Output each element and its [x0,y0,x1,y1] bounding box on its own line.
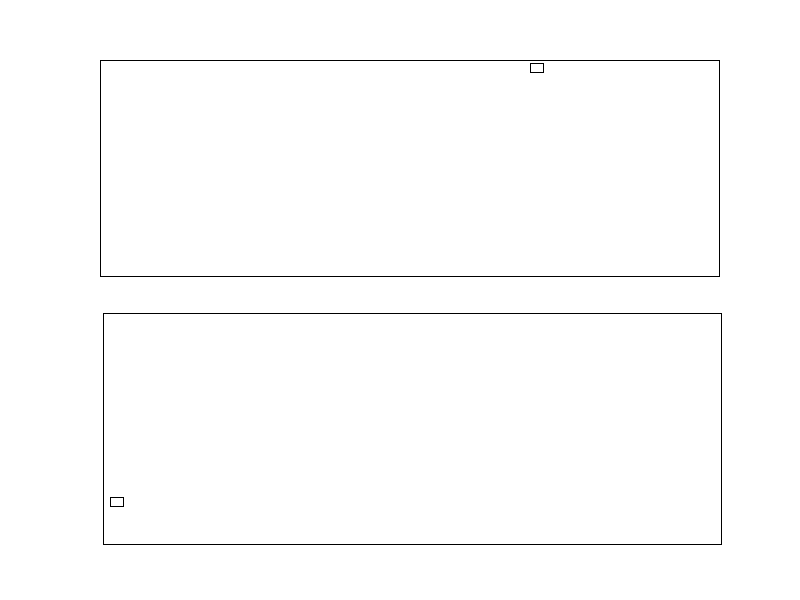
bottom-panel-legend [110,497,124,507]
figure-canvas [0,0,800,600]
top-panel-axes [100,60,720,277]
top-panel-legend [530,63,544,73]
bottom-panel-axes [103,313,722,545]
